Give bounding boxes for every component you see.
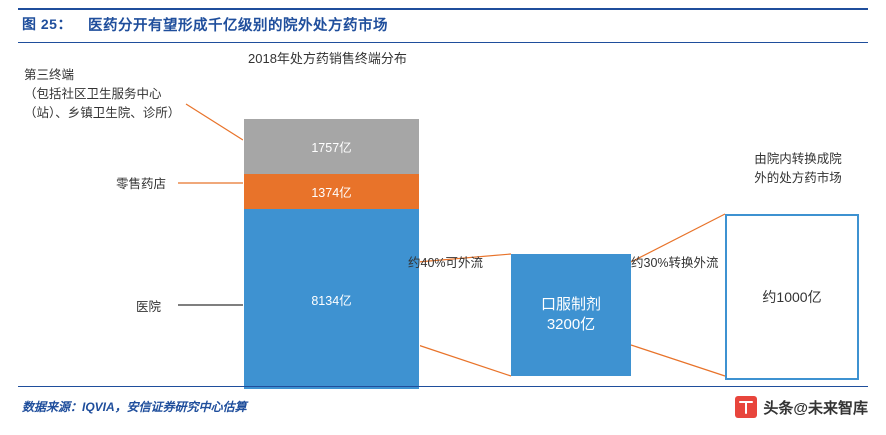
chart-title: 2018年处方药销售终端分布 [248, 48, 407, 67]
page-title: 医药分开有望形成千亿级别的院外处方药市场 [88, 14, 388, 35]
bar-segment-retail-label: 1374亿 [311, 182, 351, 201]
label-third-terminal: 第三终端 （包括社区卫生服务中心 （站）、乡镇卫生院、诊所） [24, 66, 229, 122]
label-hospital: 医院 [136, 298, 161, 317]
caption-outside-market-line1: 由院内转换成院 [738, 150, 858, 169]
stacked-bar: 1757亿 1374亿 8134亿 [243, 118, 420, 390]
bar-segment-hospital-label: 8134亿 [311, 290, 351, 309]
box-outside-market[interactable]: 约1000亿 [725, 214, 859, 380]
title-top-rule [18, 8, 868, 10]
bar-segment-third-terminal-label: 1757亿 [311, 137, 351, 156]
bar-segment-third-terminal[interactable]: 1757亿 [244, 119, 419, 174]
label-third-terminal-line3: （站）、乡镇卫生院、诊所） [24, 104, 229, 123]
label-third-terminal-line2: （包括社区卫生服务中心 [24, 85, 229, 104]
box-outside-market-value: 约1000亿 [762, 288, 821, 307]
toutiao-logo-icon [735, 396, 757, 418]
source-note: 数据来源：IQVIA，安信证券研究中心估算 [22, 398, 247, 415]
bar-segment-retail[interactable]: 1374亿 [244, 174, 419, 209]
box-oral-formulation-line1: 口服制剂 [541, 295, 601, 315]
label-third-terminal-line1: 第三终端 [24, 66, 229, 85]
caption-outside-market-line2: 外的处方药市场 [738, 169, 858, 188]
title-bottom-rule [18, 42, 868, 43]
watermark-text: 头条@未来智库 [763, 397, 868, 418]
annotation-oral-to-outside: 约30%转换外流 [631, 252, 719, 271]
footer-rule [18, 386, 868, 387]
figure-container: 图 25： 医药分开有望形成千亿级别的院外处方药市场 2018年处方药销售终端分… [0, 0, 886, 435]
bar-segment-hospital[interactable]: 8134亿 [244, 209, 419, 389]
caption-outside-market: 由院内转换成院 外的处方药市场 [738, 150, 858, 188]
annotation-hospital-to-oral: 约40%可外流 [408, 252, 483, 271]
figure-number: 图 25： [22, 14, 72, 34]
box-oral-formulation[interactable]: 口服制剂 3200亿 [511, 254, 631, 376]
label-retail: 零售药店 [116, 175, 166, 194]
watermark: 头条@未来智库 [735, 396, 868, 418]
box-oral-formulation-line2: 3200亿 [547, 315, 595, 335]
